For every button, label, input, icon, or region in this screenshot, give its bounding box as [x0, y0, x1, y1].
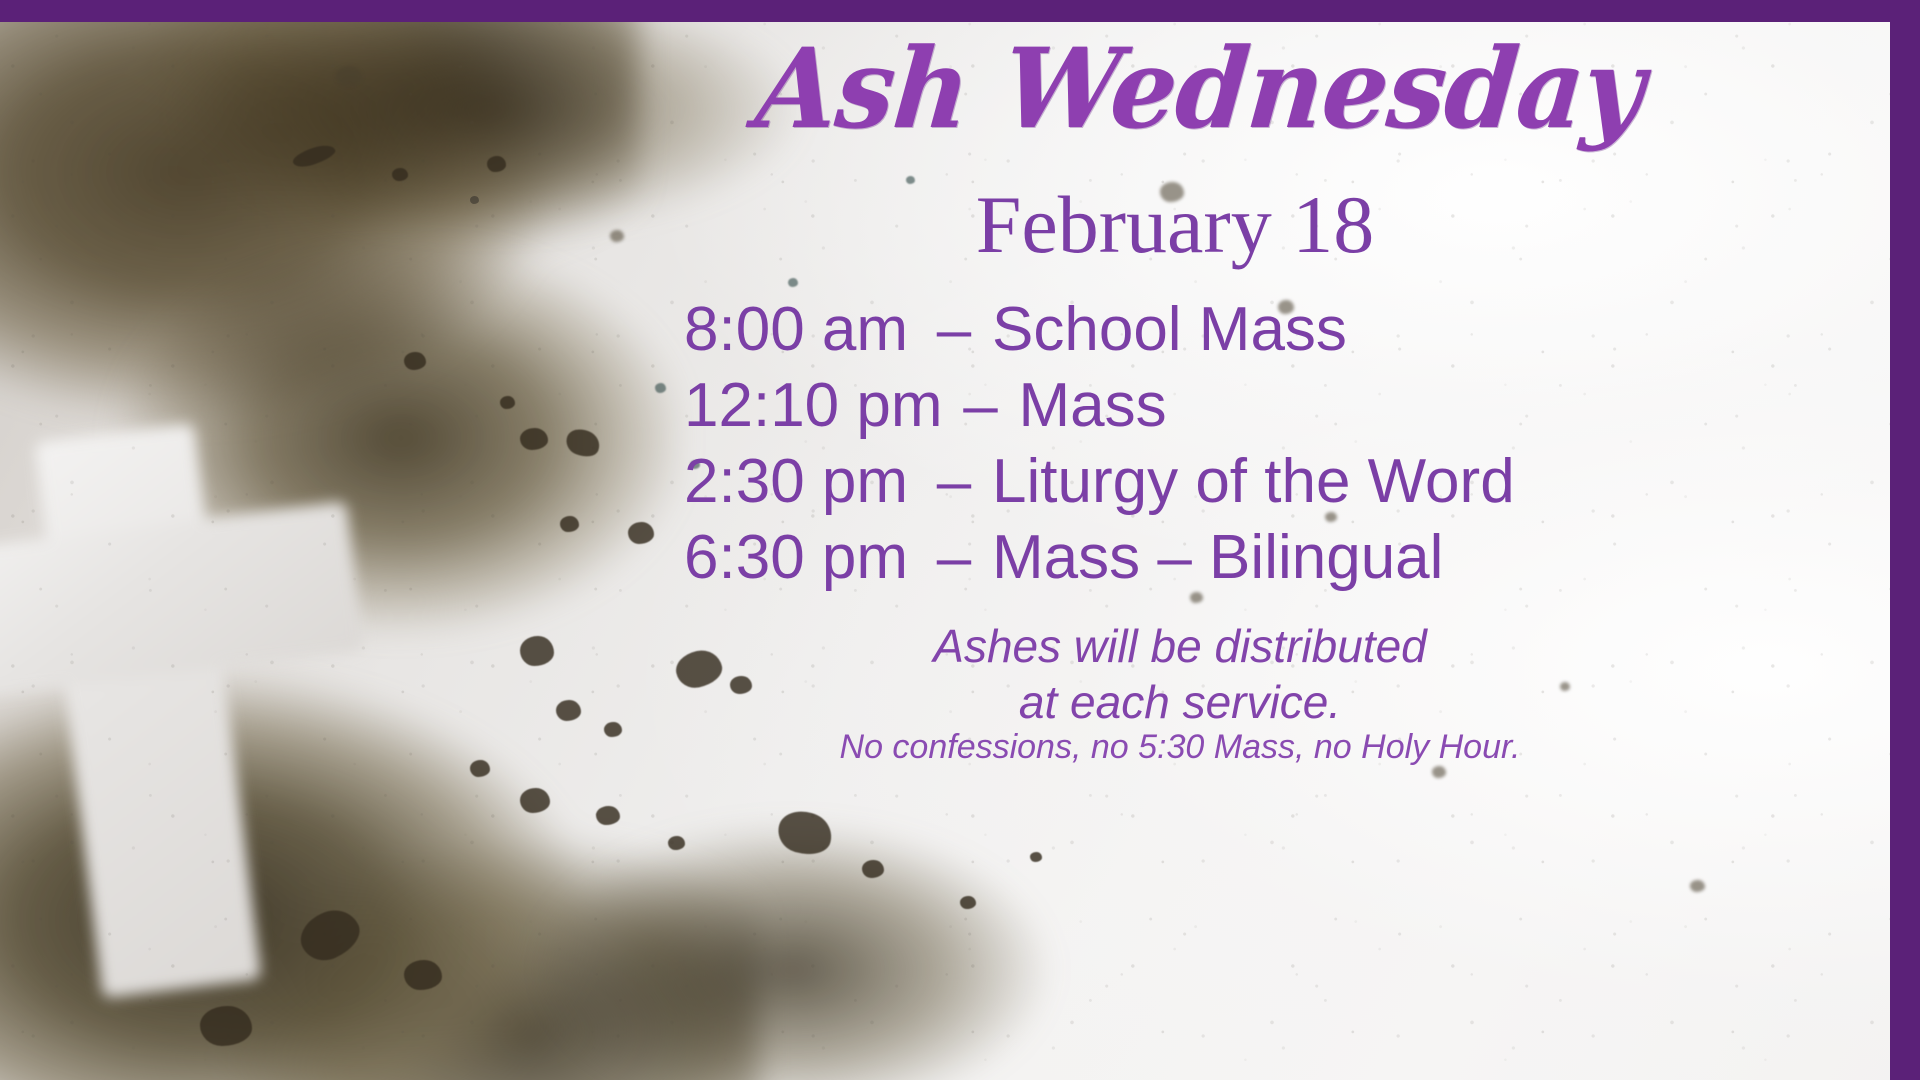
schedule-time: 6:30 pm: [684, 520, 916, 596]
schedule-label: Liturgy of the Word: [992, 444, 1515, 520]
top-border-band: [0, 0, 1920, 22]
slide-canvas: Ash Wednesday February 18 8:00 am – Scho…: [0, 0, 1920, 1080]
fineprint-note: No confessions, no 5:30 Mass, no Holy Ho…: [560, 726, 1800, 768]
schedule-time: 8:00 am: [684, 292, 916, 368]
schedule-dash: –: [943, 368, 1019, 444]
schedule-time: 12:10 pm: [684, 368, 943, 444]
schedule-dash: –: [916, 292, 992, 368]
right-border-band: [1890, 0, 1920, 1080]
ashes-note: Ashes will be distributed at each servic…: [560, 618, 1800, 730]
schedule-row: 8:00 am – School Mass: [684, 292, 1784, 368]
date-subtitle: February 18: [560, 182, 1790, 268]
text-content-block: Ash Wednesday February 18 8:00 am – Scho…: [560, 0, 1890, 1080]
schedule-row: 2:30 pm – Liturgy of the Word: [684, 444, 1784, 520]
schedule-label: School Mass: [992, 292, 1347, 368]
ashes-note-line-1: Ashes will be distributed: [560, 618, 1800, 674]
schedule-time: 2:30 pm: [684, 444, 916, 520]
schedule-label: Mass – Bilingual: [992, 520, 1443, 596]
schedule-dash: –: [916, 444, 992, 520]
schedule-label: Mass: [1019, 368, 1167, 444]
mass-schedule-list: 8:00 am – School Mass 12:10 pm – Mass 2:…: [684, 292, 1784, 596]
ashes-note-line-2: at each service.: [560, 674, 1800, 730]
page-title: Ash Wednesday: [555, 31, 1845, 147]
schedule-row: 6:30 pm – Mass – Bilingual: [684, 520, 1784, 596]
schedule-dash: –: [916, 520, 992, 596]
schedule-row: 12:10 pm – Mass: [684, 368, 1784, 444]
